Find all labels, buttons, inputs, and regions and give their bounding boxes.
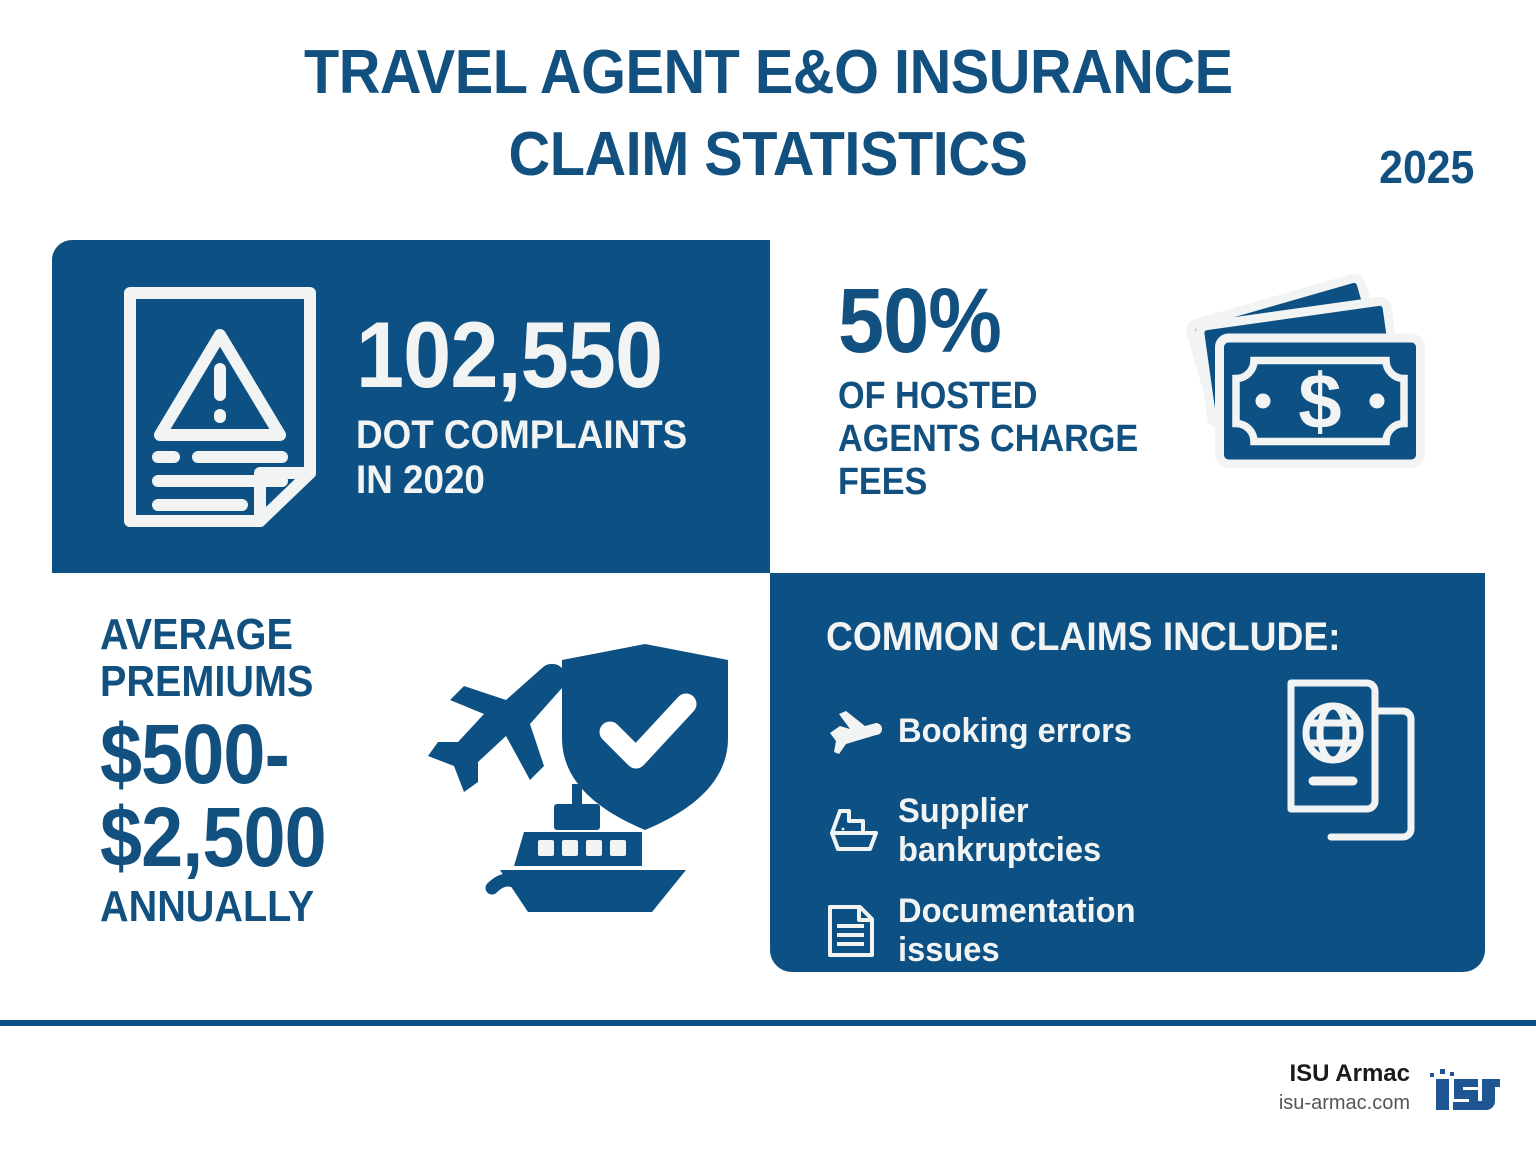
page-title: TRAVEL AGENT E&O INSURANCE — [0, 40, 1536, 107]
shield-check-icon — [562, 644, 728, 830]
hosted-fees-caption-line1: OF HOSTED — [838, 375, 1198, 418]
premiums-amount-line2: $2,500 — [100, 796, 397, 879]
hosted-fees-caption-line2: AGENTS CHARGE — [838, 418, 1198, 461]
footer-divider — [0, 1020, 1536, 1026]
claims-panel-title: COMMON CLAIMS INCLUDE: — [826, 615, 1341, 660]
document-warning-icon — [100, 283, 340, 531]
title-row-2: CLAIM STATISTICS — [0, 122, 1536, 189]
claim-item-booking-errors: Booking errors — [826, 689, 1246, 773]
premiums-head-line1: AVERAGE — [100, 612, 397, 659]
premiums-head-line2: PREMIUMS — [100, 659, 397, 706]
stat-average-premiums: AVERAGE PREMIUMS $500- $2,500 ANNUALLY — [100, 612, 430, 930]
dot-complaints-caption-line1: DOT COMPLAINTS — [356, 413, 687, 458]
hosted-fees-caption-line3: FEES — [838, 461, 1198, 504]
premiums-amount-line1: $500- — [100, 713, 397, 796]
stat-card-dot-complaints: 102,550 DOT COMPLAINTS IN 2020 — [52, 240, 770, 573]
document-icon — [826, 904, 898, 958]
dot-complaints-value: 102,550 — [356, 310, 687, 399]
claims-list: Booking errors Supplier bankruptcies — [826, 689, 1246, 989]
stat-hosted-fees: 50% OF HOSTED AGENTS CHARGE FEES — [838, 278, 1238, 504]
premiums-annually-label: ANNUALLY — [100, 884, 397, 930]
money-bills-icon: $ — [1185, 272, 1440, 487]
common-claims-panel: COMMON CLAIMS INCLUDE: Booking errors Su… — [770, 573, 1485, 972]
travel-icon-group — [420, 612, 740, 917]
svg-text:$: $ — [1298, 357, 1341, 445]
isu-logo — [1428, 1066, 1502, 1119]
claim-label: Booking errors — [898, 712, 1132, 751]
ship-icon — [826, 803, 898, 859]
year-label: 2025 — [1379, 140, 1474, 194]
brand-url[interactable]: isu-armac.com — [1279, 1089, 1410, 1117]
brand-name: ISU Armac — [1279, 1058, 1410, 1089]
airplane-icon — [428, 664, 566, 792]
claim-label: Documentation issues — [898, 892, 1232, 970]
dot-complaints-caption-line2: IN 2020 — [356, 458, 687, 503]
title-line-1: TRAVEL AGENT E&O INSURANCE — [304, 40, 1233, 107]
airplane-icon — [826, 706, 898, 756]
claim-item-documentation-issues: Documentation issues — [826, 889, 1246, 973]
title-line-2: CLAIM STATISTICS — [509, 122, 1028, 189]
claim-label: Supplier bankruptcies — [898, 792, 1101, 870]
hosted-fees-value: 50% — [838, 278, 1198, 365]
claim-item-supplier-bankruptcies: Supplier bankruptcies — [826, 789, 1246, 873]
passport-icon — [1279, 671, 1429, 862]
footer: ISU Armac isu-armac.com — [1279, 1058, 1502, 1119]
